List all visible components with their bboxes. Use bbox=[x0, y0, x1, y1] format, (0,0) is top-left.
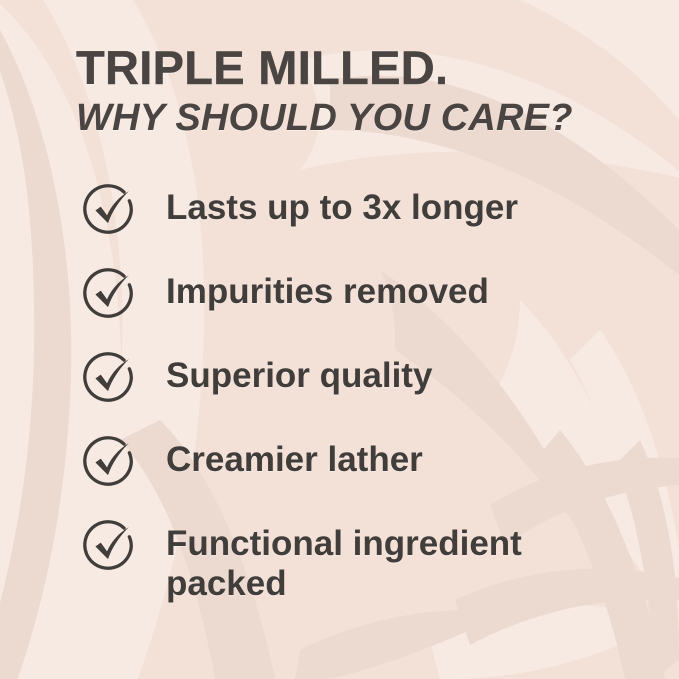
check-circle-icon bbox=[78, 179, 140, 241]
list-item: Creamier lather bbox=[78, 431, 639, 495]
check-circle-icon bbox=[78, 431, 140, 493]
benefit-label: Functional ingredient packed bbox=[166, 515, 596, 605]
list-item: Functional ingredient packed bbox=[78, 515, 639, 605]
list-item: Impurities removed bbox=[78, 263, 639, 327]
poster-content: TRIPLE MILLED. WHY SHOULD YOU CARE? Last… bbox=[0, 0, 679, 679]
page-title: TRIPLE MILLED. bbox=[76, 44, 639, 91]
benefits-list: Lasts up to 3x longer Impurities removed… bbox=[78, 179, 639, 605]
product-benefits-poster: TRIPLE MILLED. WHY SHOULD YOU CARE? Last… bbox=[0, 0, 679, 679]
list-item: Superior quality bbox=[78, 347, 639, 411]
list-item: Lasts up to 3x longer bbox=[78, 179, 639, 243]
check-circle-icon bbox=[78, 347, 140, 409]
benefit-label: Lasts up to 3x longer bbox=[166, 179, 518, 229]
check-circle-icon bbox=[78, 515, 140, 577]
benefit-label: Superior quality bbox=[166, 347, 432, 397]
benefit-label: Impurities removed bbox=[166, 263, 489, 313]
benefit-label: Creamier lather bbox=[166, 431, 423, 481]
page-subtitle: WHY SHOULD YOU CARE? bbox=[76, 99, 639, 139]
check-circle-icon bbox=[78, 263, 140, 325]
